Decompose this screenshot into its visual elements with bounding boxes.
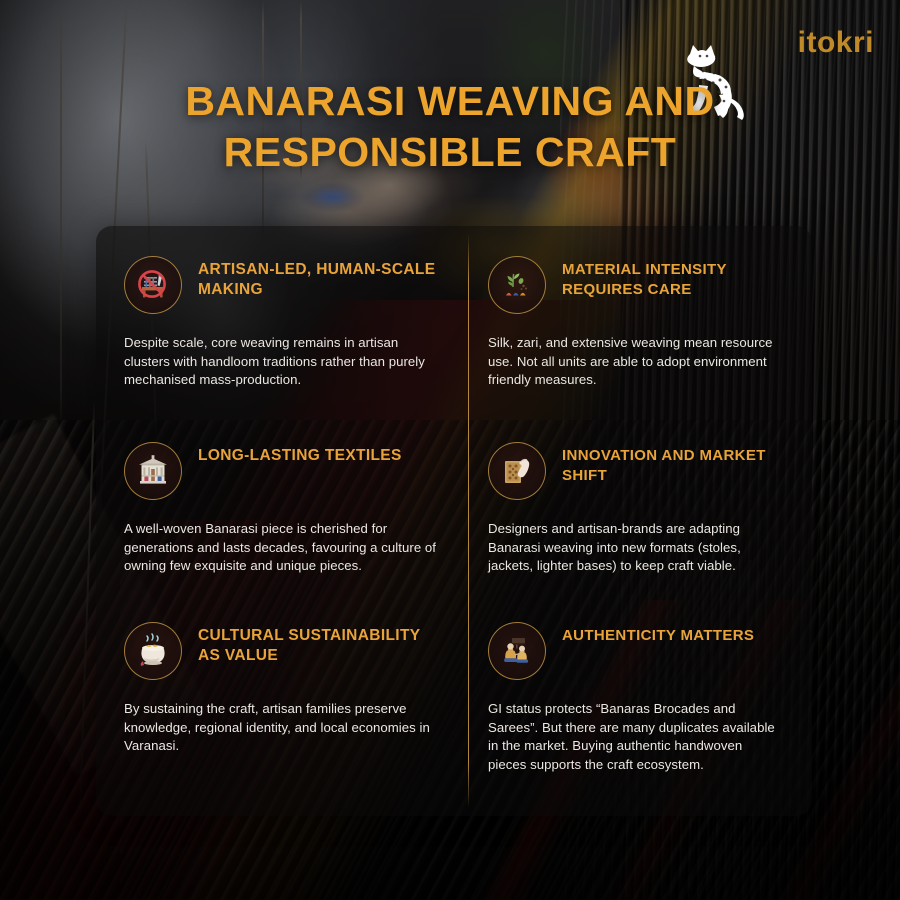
- card-header: CULTURAL SUSTAINABILITY AS VALUE: [124, 620, 440, 680]
- card-header: LONG-LASTING TEXTILES: [124, 440, 440, 500]
- card-body: Designers and artisan-brands are adaptin…: [488, 520, 784, 576]
- page-title: BANARASI WEAVING AND RESPONSIBLE CRAFT: [0, 76, 900, 179]
- hand-holding-fabric-swatch-icon: [488, 442, 546, 500]
- card-title: CULTURAL SUSTAINABILITY AS VALUE: [198, 620, 440, 666]
- no-machine-loom-icon: [124, 256, 182, 314]
- card-body: Silk, zari, and extensive weaving mean r…: [488, 334, 784, 390]
- card-title: AUTHENTICITY MATTERS: [562, 620, 754, 646]
- content-panel: ARTISAN-LED, HUMAN-SCALE MAKING Despite …: [96, 226, 812, 816]
- card-body: GI status protects “Banaras Brocades and…: [488, 700, 784, 775]
- two-seated-artisans-icon: [488, 622, 546, 680]
- card-body: A well-woven Banarasi piece is cherished…: [124, 520, 440, 576]
- card-header: AUTHENTICITY MATTERS: [488, 620, 784, 680]
- heritage-building-icon: [124, 442, 182, 500]
- steaming-pot-icon: [124, 622, 182, 680]
- card-cultural-sustainability: CULTURAL SUSTAINABILITY AS VALUE By sust…: [96, 592, 468, 816]
- brand-logo[interactable]: itokri: [798, 28, 874, 58]
- card-body: By sustaining the craft, artisan familie…: [124, 700, 440, 756]
- card-innovation-market-shift: INNOVATION AND MARKET SHIFT Designers an…: [468, 412, 812, 592]
- card-body: Despite scale, core weaving remains in a…: [124, 334, 440, 390]
- cards-grid: ARTISAN-LED, HUMAN-SCALE MAKING Despite …: [96, 226, 812, 816]
- card-header: MATERIAL INTENSITY REQUIRES CARE: [488, 254, 784, 314]
- card-authenticity-matters: AUTHENTICITY MATTERS GI status protects …: [468, 592, 812, 816]
- card-title: MATERIAL INTENSITY REQUIRES CARE: [562, 254, 784, 299]
- card-artisan-led: ARTISAN-LED, HUMAN-SCALE MAKING Despite …: [96, 226, 468, 412]
- card-long-lasting-textiles: LONG-LASTING TEXTILES A well-woven Banar…: [96, 412, 468, 592]
- card-header: INNOVATION AND MARKET SHIFT: [488, 440, 784, 500]
- card-title: LONG-LASTING TEXTILES: [198, 440, 402, 466]
- brand-logo-text: itokri: [798, 28, 874, 58]
- card-title: ARTISAN-LED, HUMAN-SCALE MAKING: [198, 254, 440, 300]
- card-header: ARTISAN-LED, HUMAN-SCALE MAKING: [124, 254, 440, 314]
- infographic-poster: itokri BANARASI WEAVING AND RESPONSIBLE …: [0, 0, 900, 900]
- card-material-intensity: MATERIAL INTENSITY REQUIRES CARE Silk, z…: [468, 226, 812, 412]
- plant-dye-powder-icon: [488, 256, 546, 314]
- card-title: INNOVATION AND MARKET SHIFT: [562, 440, 784, 485]
